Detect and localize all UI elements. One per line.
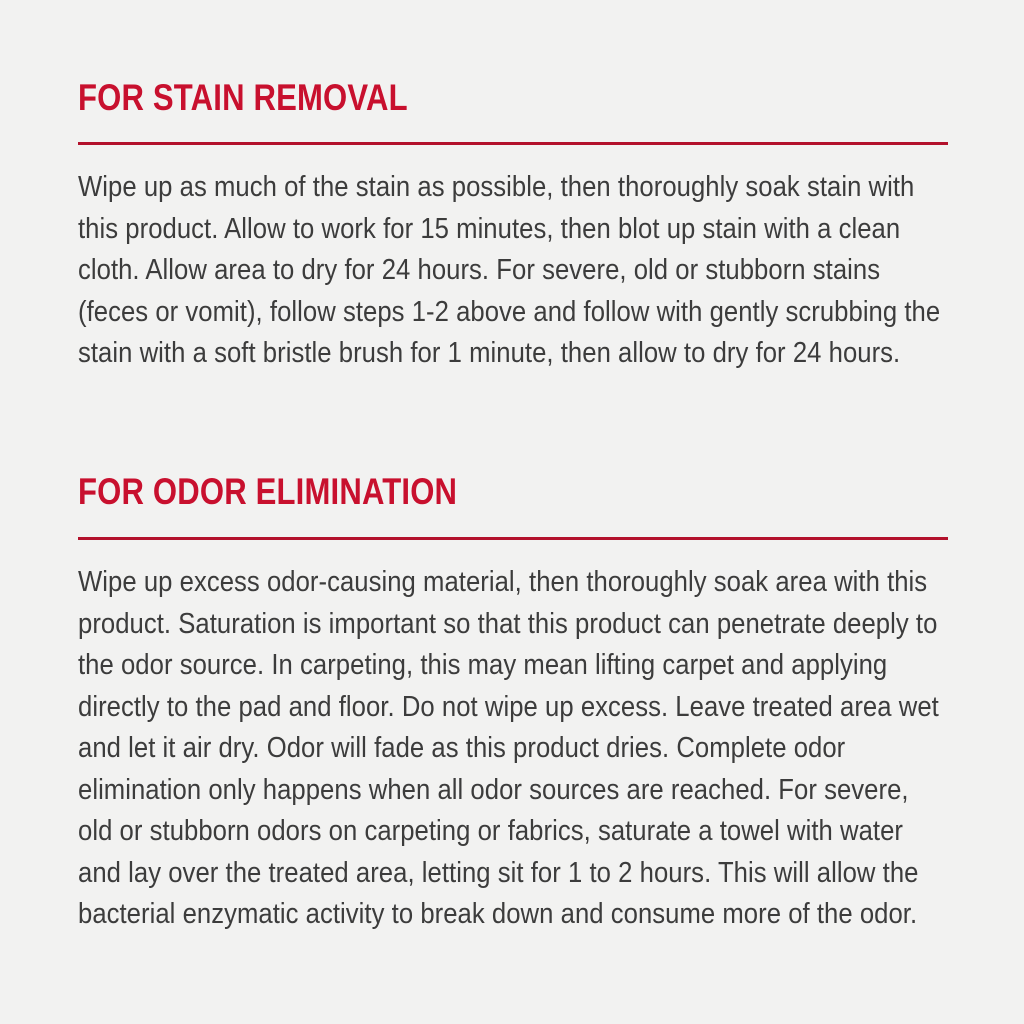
section-heading-stain-removal: FOR STAIN REMOVAL [78,76,809,120]
section-heading-odor-elimination: FOR ODOR ELIMINATION [78,470,809,514]
section-body-stain-removal: Wipe up as much of the stain as possible… [78,145,948,375]
section-body-odor-elimination: Wipe up excess odor-causing material, th… [78,540,948,936]
instructions-panel: FOR STAIN REMOVAL Wipe up as much of the… [78,0,948,1024]
section-odor-elimination: FOR ODOR ELIMINATION Wipe up excess odor… [78,470,948,936]
section-stain-removal: FOR STAIN REMOVAL Wipe up as much of the… [78,76,948,375]
